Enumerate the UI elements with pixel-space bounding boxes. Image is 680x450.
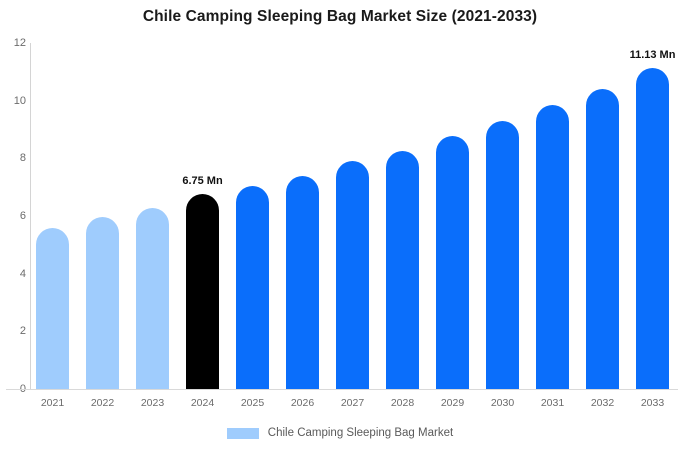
bar-2021[interactable] [36, 228, 69, 389]
y-axis-tick-label: 6 [4, 210, 26, 222]
legend-label: Chile Camping Sleeping Bag Market [268, 427, 453, 439]
x-axis-tick-label-2028: 2028 [381, 397, 425, 409]
bar-2030[interactable] [486, 121, 519, 389]
x-axis-tick-label-2026: 2026 [281, 397, 325, 409]
bar-chart: Chile Camping Sleeping Bag Market Size (… [0, 0, 680, 450]
bar-2029[interactable] [436, 136, 469, 389]
x-axis-line [6, 389, 678, 390]
chart-legend: Chile Camping Sleeping Bag Market [0, 427, 680, 439]
x-axis-tick-label-2033: 2033 [631, 397, 675, 409]
y-axis-tick-label: 10 [4, 95, 26, 107]
x-axis-tick-label-2029: 2029 [431, 397, 475, 409]
bar-2026[interactable] [286, 176, 319, 389]
y-axis-tick-label: 8 [4, 152, 26, 164]
y-axis-tick-label: 2 [4, 325, 26, 337]
y-axis-tick-labels: 024681012 [0, 0, 26, 450]
x-axis-tick-label-2022: 2022 [81, 397, 125, 409]
x-axis-tick-label-2021: 2021 [31, 397, 75, 409]
bar-2032[interactable] [586, 89, 619, 389]
plot-area [30, 43, 678, 389]
legend-swatch-icon [227, 428, 259, 439]
bar-2027[interactable] [336, 161, 369, 389]
y-axis-tick-label: 12 [4, 37, 26, 49]
x-axis-tick-label-2032: 2032 [581, 397, 625, 409]
bar-2028[interactable] [386, 151, 419, 389]
bar-2033[interactable] [636, 68, 669, 389]
chart-title: Chile Camping Sleeping Bag Market Size (… [0, 8, 680, 26]
x-axis-tick-label-2023: 2023 [131, 397, 175, 409]
y-axis-tick-label: 4 [4, 268, 26, 280]
bar-value-label-2033: 11.13 Mn [630, 49, 676, 61]
x-axis-tick-label-2024: 2024 [181, 397, 225, 409]
bar-2023[interactable] [136, 208, 169, 389]
bar-2031[interactable] [536, 105, 569, 389]
x-axis-tick-label-2025: 2025 [231, 397, 275, 409]
bar-2025[interactable] [236, 186, 269, 389]
bar-2022[interactable] [86, 217, 119, 389]
x-axis-tick-label-2030: 2030 [481, 397, 525, 409]
bar-2024[interactable] [186, 194, 219, 389]
x-axis-tick-label-2027: 2027 [331, 397, 375, 409]
bar-value-label-2024: 6.75 Mn [182, 175, 222, 187]
x-axis-tick-label-2031: 2031 [531, 397, 575, 409]
